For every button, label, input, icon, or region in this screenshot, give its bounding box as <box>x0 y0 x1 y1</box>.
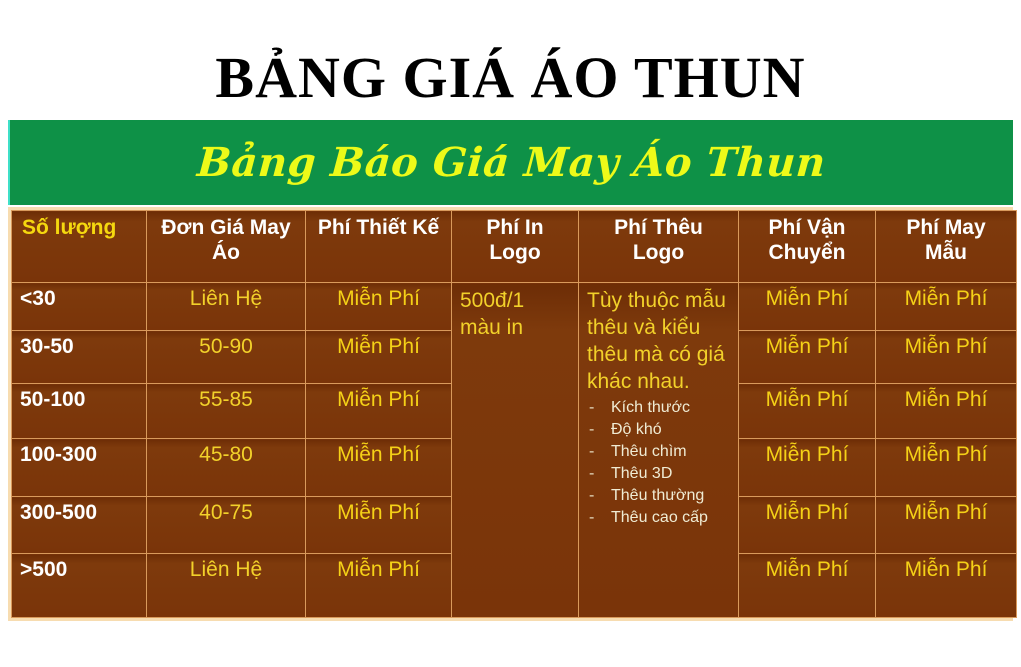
cell-quantity: >500 <box>12 554 147 618</box>
cell-shipping-fee: Miễn Phí <box>739 331 876 384</box>
cell-design-fee: Miễn Phí <box>306 554 452 618</box>
cell-sample-fee: Miễn Phí <box>876 331 1017 384</box>
list-item: -Độ khó <box>589 419 730 441</box>
column-header-sample-fee: Phí May Mẫu <box>876 211 1017 283</box>
bullet-dash-icon: - <box>589 463 603 485</box>
cell-print-logo-fee: 500đ/1 màu in <box>452 283 579 618</box>
cell-quantity: 300-500 <box>12 497 147 554</box>
table-body: <30 Liên Hệ Miễn Phí 500đ/1 màu in Tùy t… <box>12 283 1017 618</box>
price-table: Số lượng Đơn Giá May Áo Phí Thiết Kế Phí… <box>11 210 1017 618</box>
price-table-page: BẢNG GIÁ ÁO THUN Bảng Báo Giá May Áo Thu… <box>0 0 1021 667</box>
bullet-dash-icon: - <box>589 397 603 419</box>
cell-unit-price: 40-75 <box>147 497 306 554</box>
list-item-label: Kích thước <box>611 397 690 419</box>
column-header-design-fee: Phí Thiết Kế <box>306 211 452 283</box>
list-item-label: Thêu thường <box>611 485 704 507</box>
price-table-container: Số lượng Đơn Giá May Áo Phí Thiết Kế Phí… <box>8 207 1013 621</box>
list-item-label: Thêu cao cấp <box>611 507 708 529</box>
list-item: -Thêu cao cấp <box>589 507 730 529</box>
cell-design-fee: Miễn Phí <box>306 439 452 497</box>
column-header-quantity: Số lượng <box>12 211 147 283</box>
cell-unit-price: 45-80 <box>147 439 306 497</box>
bullet-dash-icon: - <box>589 441 603 463</box>
list-item-label: Độ khó <box>611 419 662 441</box>
cell-shipping-fee: Miễn Phí <box>739 497 876 554</box>
bullet-dash-icon: - <box>589 507 603 529</box>
bullet-dash-icon: - <box>589 485 603 507</box>
list-item: -Thêu 3D <box>589 463 730 485</box>
cell-design-fee: Miễn Phí <box>306 283 452 331</box>
list-item: -Thêu chìm <box>589 441 730 463</box>
column-header-print-logo-fee: Phí In Logo <box>452 211 579 283</box>
cell-unit-price: Liên Hệ <box>147 283 306 331</box>
cell-embroidery-fee: Tùy thuộc mẫu thêu và kiểu thêu mà có gi… <box>579 283 739 618</box>
cell-sample-fee: Miễn Phí <box>876 384 1017 439</box>
column-header-embroidery-fee: Phí Thêu Logo <box>579 211 739 283</box>
cell-shipping-fee: Miễn Phí <box>739 554 876 618</box>
list-item: -Kích thước <box>589 397 730 419</box>
table-header: Số lượng Đơn Giá May Áo Phí Thiết Kế Phí… <box>12 211 1017 283</box>
cell-shipping-fee: Miễn Phí <box>739 384 876 439</box>
cell-quantity: 100-300 <box>12 439 147 497</box>
cell-sample-fee: Miễn Phí <box>876 283 1017 331</box>
column-header-unit-price: Đơn Giá May Áo <box>147 211 306 283</box>
embroidery-factor-list: -Kích thước -Độ khó -Thêu chìm -Thêu 3D … <box>587 397 730 529</box>
cell-quantity: 50-100 <box>12 384 147 439</box>
green-banner: Bảng Báo Giá May Áo Thun <box>8 120 1013 205</box>
page-title: BẢNG GIÁ ÁO THUN <box>0 46 1021 110</box>
cell-design-fee: Miễn Phí <box>306 497 452 554</box>
cell-shipping-fee: Miễn Phí <box>739 439 876 497</box>
column-header-shipping-fee: Phí Vận Chuyển <box>739 211 876 283</box>
table-row: <30 Liên Hệ Miễn Phí 500đ/1 màu in Tùy t… <box>12 283 1017 331</box>
cell-sample-fee: Miễn Phí <box>876 439 1017 497</box>
cell-unit-price: Liên Hệ <box>147 554 306 618</box>
bullet-dash-icon: - <box>589 419 603 441</box>
banner-title: Bảng Báo Giá May Áo Thun <box>7 120 1016 205</box>
cell-unit-price: 55-85 <box>147 384 306 439</box>
cell-sample-fee: Miễn Phí <box>876 497 1017 554</box>
cell-unit-price: 50-90 <box>147 331 306 384</box>
cell-quantity: <30 <box>12 283 147 331</box>
cell-shipping-fee: Miễn Phí <box>739 283 876 331</box>
list-item-label: Thêu 3D <box>611 463 672 485</box>
cell-design-fee: Miễn Phí <box>306 331 452 384</box>
header-row: Số lượng Đơn Giá May Áo Phí Thiết Kế Phí… <box>12 211 1017 283</box>
cell-quantity: 30-50 <box>12 331 147 384</box>
cell-design-fee: Miễn Phí <box>306 384 452 439</box>
cell-sample-fee: Miễn Phí <box>876 554 1017 618</box>
embroidery-description: Tùy thuộc mẫu thêu và kiểu thêu mà có gi… <box>587 287 730 395</box>
list-item: -Thêu thường <box>589 485 730 507</box>
list-item-label: Thêu chìm <box>611 441 687 463</box>
